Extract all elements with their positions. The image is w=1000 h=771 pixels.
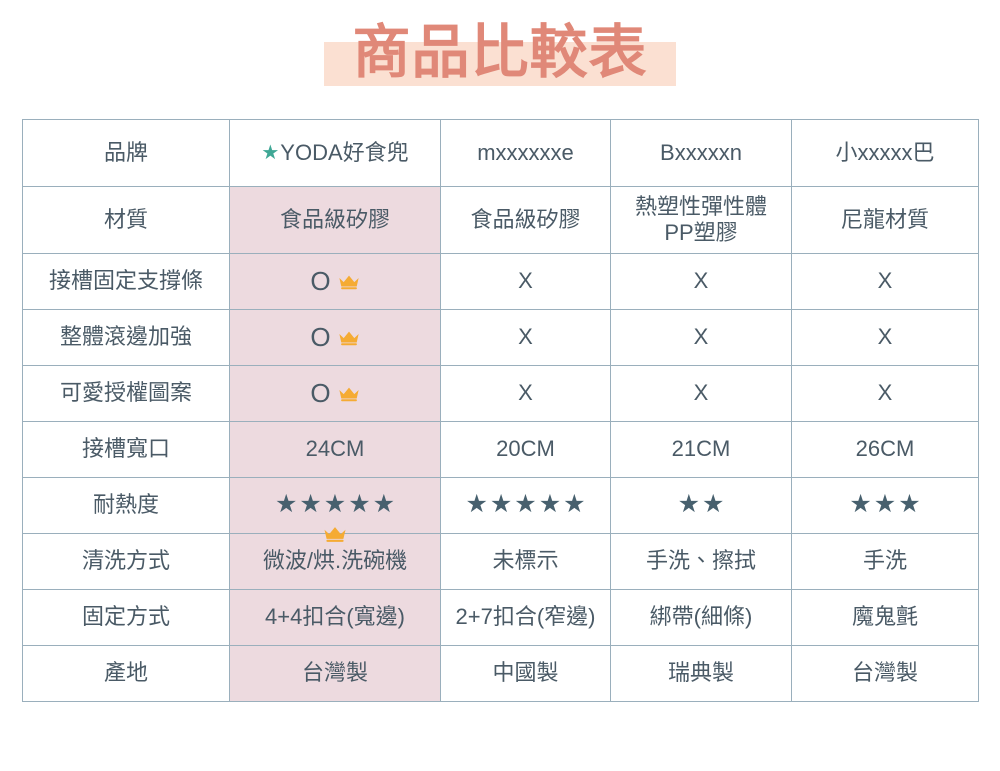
cell-cleaning-method-s: 手洗 (792, 534, 979, 590)
cell-brand-b: Bxxxxxn (611, 120, 792, 187)
cell-material-m: 食品級矽膠 (441, 187, 611, 254)
cell-cleaning-method-m: 未標示 (441, 534, 611, 590)
cell-support-bar-s: X (792, 254, 979, 310)
cell-cleaning-method-yoda-text: 微波/烘.洗碗機 (263, 548, 407, 573)
row-label-support-bar: 接槽固定支撐條 (23, 254, 230, 310)
table-row-slot-width: 接槽寬口 24CM 20CM 21CM 26CM (23, 422, 979, 478)
cell-material-s: 尼龍材質 (792, 187, 979, 254)
table-row-material: 材質 食品級矽膠 食品級矽膠 熱塑性彈性體 PP塑膠 尼龍材質 (23, 187, 979, 254)
page-title-area: 商品比較表 (0, 0, 1000, 110)
mark-value: O (310, 266, 330, 297)
cell-licensed-pattern-m: X (441, 366, 611, 422)
cell-cleaning-method-yoda: 微波/烘.洗碗機 (230, 534, 441, 590)
cell-brand-yoda: ★YODA好食兜 (230, 120, 441, 187)
star-icon: ★ (849, 492, 871, 517)
cell-heat-resistance-yoda: ★★★★★ (230, 478, 441, 534)
cell-licensed-pattern-yoda: O (230, 366, 441, 422)
row-label-cleaning-method: 清洗方式 (23, 534, 230, 590)
star-icon: ★ (898, 492, 920, 517)
cell-cleaning-method-b: 手洗、擦拭 (611, 534, 792, 590)
table-row-support-bar: 接槽固定支撐條 O X X X (23, 254, 979, 310)
cell-slot-width-b: 21CM (611, 422, 792, 478)
cell-fixing-method-b: 綁帶(細條) (611, 590, 792, 646)
ox-with-crown: O (310, 322, 359, 353)
crown-icon (338, 330, 360, 346)
rating-stars: ★★★★★ (465, 492, 585, 517)
cell-brand-m: mxxxxxxe (441, 120, 611, 187)
star-icon: ★ (299, 492, 321, 517)
cell-licensed-pattern-s: X (792, 366, 979, 422)
cell-licensed-pattern-b: X (611, 366, 792, 422)
row-label-licensed-pattern: 可愛授權圖案 (23, 366, 230, 422)
ox-with-crown: O (310, 266, 359, 297)
table-row-fixing-method: 固定方式 4+4扣合(寬邊) 2+7扣合(窄邊) 綁帶(細條) 魔鬼氈 (23, 590, 979, 646)
table-row-cleaning-method: 清洗方式 微波/烘.洗碗機 未標示 手洗、擦拭 手洗 (23, 534, 979, 590)
table-row-edge-reinforce: 整體滾邊加強 O X X X (23, 310, 979, 366)
mark-value: O (310, 322, 330, 353)
star-icon: ★ (539, 492, 561, 517)
comparison-table-wrapper: 品牌 ★YODA好食兜 mxxxxxxe Bxxxxxn 小xxxxx巴 材質 … (22, 119, 978, 702)
cell-slot-width-s: 26CM (792, 422, 979, 478)
cell-material-b-line1: 熱塑性彈性體 (635, 194, 767, 219)
row-label-brand: 品牌 (23, 120, 230, 187)
cell-slot-width-m: 20CM (441, 422, 611, 478)
star-icon: ★ (324, 492, 346, 517)
row-label-origin: 產地 (23, 646, 230, 702)
cell-edge-reinforce-m: X (441, 310, 611, 366)
cell-origin-m: 中國製 (441, 646, 611, 702)
comparison-table: 品牌 ★YODA好食兜 mxxxxxxe Bxxxxxn 小xxxxx巴 材質 … (22, 119, 979, 702)
star-icon: ★ (678, 492, 700, 517)
table-row-licensed-pattern: 可愛授權圖案 O X X X (23, 366, 979, 422)
brand-name-yoda: YODA好食兜 (280, 140, 408, 165)
brand-star-icon: ★ (261, 143, 279, 163)
star-icon: ★ (465, 492, 487, 517)
star-icon: ★ (514, 492, 536, 517)
cell-edge-reinforce-s: X (792, 310, 979, 366)
cell-support-bar-yoda: O (230, 254, 441, 310)
cell-heat-resistance-b: ★★ (611, 478, 792, 534)
star-icon: ★ (563, 492, 585, 517)
row-label-edge-reinforce: 整體滾邊加強 (23, 310, 230, 366)
cell-fixing-method-yoda: 4+4扣合(寬邊) (230, 590, 441, 646)
cell-heat-resistance-m: ★★★★★ (441, 478, 611, 534)
crown-icon (338, 386, 360, 402)
rating-stars: ★★★★★ (275, 492, 395, 517)
mark-value: O (310, 378, 330, 409)
cell-material-b-line2: PP塑膠 (664, 220, 737, 245)
rating-stars: ★★ (678, 492, 725, 517)
star-icon: ★ (490, 492, 512, 517)
row-label-slot-width: 接槽寬口 (23, 422, 230, 478)
cell-heat-resistance-s: ★★★ (792, 478, 979, 534)
cell-brand-s: 小xxxxx巴 (792, 120, 979, 187)
crown-icon (338, 274, 360, 290)
cell-slot-width-yoda: 24CM (230, 422, 441, 478)
cell-fixing-method-m: 2+7扣合(窄邊) (441, 590, 611, 646)
cell-material-yoda: 食品級矽膠 (230, 187, 441, 254)
cell-material-b: 熱塑性彈性體 PP塑膠 (611, 187, 792, 254)
cell-origin-yoda: 台灣製 (230, 646, 441, 702)
cell-support-bar-b: X (611, 254, 792, 310)
star-icon: ★ (348, 492, 370, 517)
star-icon: ★ (275, 492, 297, 517)
row-label-material: 材質 (23, 187, 230, 254)
cell-edge-reinforce-yoda: O (230, 310, 441, 366)
cell-support-bar-m: X (441, 254, 611, 310)
row-label-fixing-method: 固定方式 (23, 590, 230, 646)
ox-with-crown: O (310, 378, 359, 409)
cell-origin-b: 瑞典製 (611, 646, 792, 702)
table-row-brand: 品牌 ★YODA好食兜 mxxxxxxe Bxxxxxn 小xxxxx巴 (23, 120, 979, 187)
rating-stars: ★★★ (849, 492, 920, 517)
table-row-origin: 產地 台灣製 中國製 瑞典製 台灣製 (23, 646, 979, 702)
row-label-heat-resistance: 耐熱度 (23, 478, 230, 534)
star-icon: ★ (702, 492, 724, 517)
star-icon: ★ (373, 492, 395, 517)
cell-fixing-method-s: 魔鬼氈 (792, 590, 979, 646)
star-icon: ★ (874, 492, 896, 517)
table-row-heat-resistance: 耐熱度 ★★★★★ ★★★★★ ★★ ★★★ (23, 478, 979, 534)
cell-origin-s: 台灣製 (792, 646, 979, 702)
page-title: 商品比較表 (342, 22, 657, 88)
cell-edge-reinforce-b: X (611, 310, 792, 366)
